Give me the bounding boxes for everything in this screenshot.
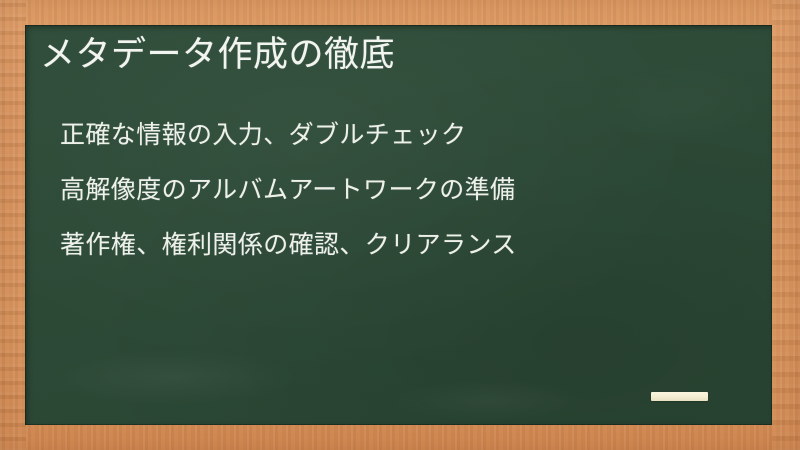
slide-title: メタデータ作成の徹底 (40, 33, 740, 77)
frame-grain-left (0, 0, 26, 450)
slide-content: メタデータ作成の徹底 正確な情報の入力、ダブルチェック 高解像度のアルバムアート… (25, 25, 772, 425)
bullet-item-1: 正確な情報の入力、ダブルチェック (60, 107, 750, 162)
frame-grain-right (772, 0, 800, 450)
bullet-item-2: 高解像度のアルバムアートワークの準備 (60, 162, 750, 217)
chalkboard-slide: メタデータ作成の徹底 正確な情報の入力、ダブルチェック 高解像度のアルバムアート… (0, 0, 800, 450)
chalkboard-surface: メタデータ作成の徹底 正確な情報の入力、ダブルチェック 高解像度のアルバムアート… (25, 25, 772, 425)
chalk-stick-icon (651, 392, 708, 401)
bullet-item-3: 著作権、権利関係の確認、クリアランス (60, 217, 750, 272)
bullet-list: 正確な情報の入力、ダブルチェック 高解像度のアルバムアートワークの準備 著作権、… (60, 107, 750, 272)
